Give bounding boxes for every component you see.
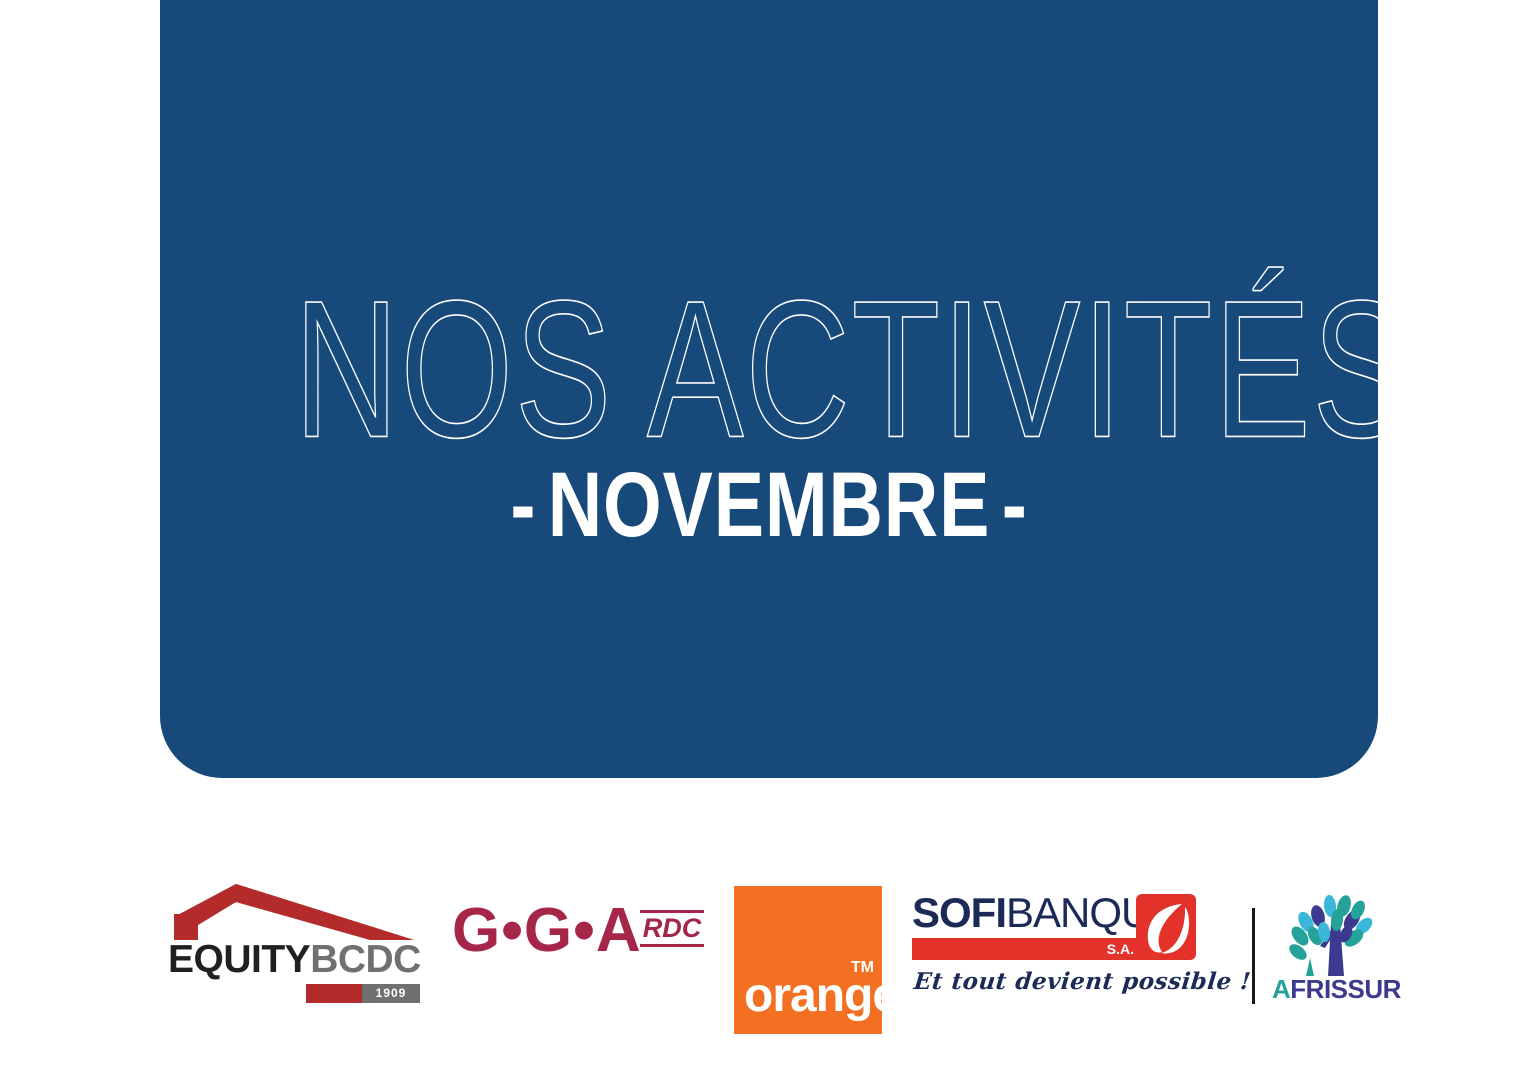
- subtitle-dash-right: -: [990, 459, 1039, 551]
- equity-word-primary: EQUITY: [168, 938, 310, 981]
- slide-canvas: NOS ACTIVITÉS -NOVEMBRE- EQUITYBCDC 19: [0, 0, 1536, 1074]
- sofibanque-red-bar: S.A.: [912, 938, 1140, 960]
- house-roof-icon: [174, 884, 414, 940]
- afrissur-wordmark: AFRISSUR: [1272, 976, 1394, 1002]
- afrissur-word-rest: FRISSUR: [1290, 974, 1401, 1004]
- partner-logo-strip: EQUITYBCDC 1909 G•G•A RDC TM orange: [0, 872, 1536, 1032]
- logo-afrissur: AFRISSUR: [1272, 890, 1394, 1008]
- page-subtitle: -NOVEMBRE-: [270, 459, 1269, 551]
- tree-icon: [1284, 890, 1382, 978]
- equity-bar-red: [306, 984, 362, 1003]
- leaf-icon: [1136, 894, 1196, 960]
- page-title: NOS ACTIVITÉS: [294, 280, 1244, 460]
- logo-divider: [1252, 908, 1255, 1004]
- subtitle-month: NOVEMBRE: [548, 454, 990, 556]
- gga-suffix: RDC: [640, 913, 704, 944]
- sofi-word-primary: SOFI: [912, 889, 1006, 936]
- hero-text-block: NOS ACTIVITÉS -NOVEMBRE-: [160, 280, 1378, 551]
- logo-gga-rdc: G•G•A RDC: [452, 900, 704, 984]
- equity-word-secondary: BCDC: [310, 938, 421, 981]
- sofibanque-tagline: Et tout devient possible !: [913, 968, 1253, 995]
- subtitle-dash-left: -: [499, 459, 548, 551]
- equity-wordmark: EQUITYBCDC: [168, 940, 420, 979]
- logo-sofibanque: SOFIBANQUE S.A. Et tout devient possible…: [912, 892, 1192, 1002]
- logo-equity-bcdc: EQUITYBCDC 1909: [168, 884, 420, 1000]
- gga-rdc-block: RDC: [640, 910, 704, 947]
- equity-year-label: 1909: [362, 984, 420, 1003]
- afrissur-initial: A: [1272, 974, 1290, 1004]
- sofibanque-legal-form: S.A.: [1107, 938, 1134, 960]
- gga-wordmark: G•G•A: [452, 900, 642, 962]
- gga-rule-bottom: [640, 944, 704, 947]
- orange-wordmark: orange: [744, 972, 898, 1020]
- hero-panel: NOS ACTIVITÉS -NOVEMBRE-: [160, 0, 1378, 778]
- equity-year-bar: 1909: [306, 984, 420, 1003]
- logo-orange: TM orange: [734, 886, 882, 1034]
